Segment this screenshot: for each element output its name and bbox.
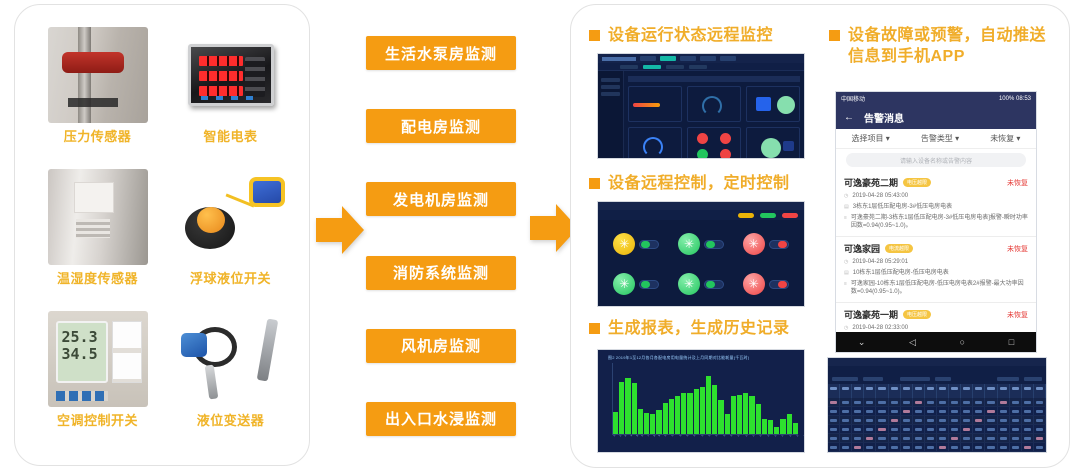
scenario-item-fan-room[interactable]: 风机房监测 (366, 329, 516, 363)
table-cell (985, 452, 997, 453)
chart-bar (663, 403, 668, 434)
table-header-cell (913, 384, 925, 398)
control-device-2[interactable]: ✳ (678, 233, 724, 255)
table-row[interactable] (828, 416, 1046, 425)
fan-icon: ✳ (613, 233, 635, 255)
table-cell (937, 425, 949, 433)
square-bullet-icon (589, 178, 600, 189)
chart-bar (632, 383, 637, 434)
device-label: 空调控制开关 (57, 410, 138, 429)
dashboard-tab[interactable] (640, 56, 656, 61)
table-cell (828, 416, 840, 424)
table-cell (937, 407, 949, 415)
alarm-title: 可逸豪苑一期 (844, 308, 898, 321)
table-cell (889, 452, 901, 453)
table-cell (925, 407, 937, 415)
arrow-left-icon[interactable]: ← (844, 112, 854, 123)
table-cell (949, 407, 961, 415)
table-cell (1010, 407, 1022, 415)
table-cell (949, 416, 961, 424)
table-cell (840, 416, 852, 424)
phone-status-bar: 中国移动 100% 08:53 (836, 92, 1036, 105)
dashboard-subtab[interactable] (689, 65, 707, 69)
dashboard-panel-title (628, 76, 800, 82)
table-cell (840, 443, 852, 451)
table-cell (901, 443, 913, 451)
device-label: 液位变送器 (197, 410, 265, 429)
dashboard-tab[interactable] (700, 56, 716, 61)
chevron-down-icon[interactable]: ⌄ (858, 337, 866, 348)
table-header-cell (985, 384, 997, 398)
table-header-cell (852, 384, 864, 398)
table-cell (876, 398, 888, 406)
toolbar-date-range[interactable] (900, 377, 930, 381)
phone-navbar: ← 告警消息 (836, 105, 1036, 129)
table-cell (828, 407, 840, 415)
table-cell (864, 398, 876, 406)
table-cell (925, 452, 937, 453)
dashboard-main (624, 71, 804, 159)
table-cell (1010, 443, 1022, 451)
devices-panel: 压力传感器 智能电表 温湿度传感器 浮球液位开关 (14, 4, 310, 466)
power-toggle[interactable] (639, 280, 659, 289)
table-cell (998, 416, 1010, 424)
remote-control-screenshot[interactable]: ✳ ✳ ✳ ✳ ✳ (597, 201, 805, 307)
chart-bar (644, 413, 649, 434)
table-cell (864, 425, 876, 433)
back-triangle-icon[interactable]: ◁ (909, 337, 916, 348)
table-toolbar (828, 373, 1046, 384)
power-toggle[interactable] (769, 240, 789, 249)
scenario-item-water-pump-room[interactable]: 生活水泵房监测 (366, 36, 516, 70)
table-cell (828, 452, 840, 453)
table-cell (876, 416, 888, 424)
device-item-ac-control-switch[interactable]: 25.334.5 空调控制开关 (35, 311, 160, 447)
table-header-cell (876, 384, 888, 398)
square-bullet-icon (589, 323, 600, 334)
table-cell (840, 452, 852, 453)
chart-bar (774, 427, 779, 434)
dashboard-subtabs (598, 63, 804, 71)
scenario-item-power-distribution-room[interactable]: 配电房监测 (366, 109, 516, 143)
table-cell (852, 434, 864, 442)
phone-search-row[interactable]: 请输入设备名称或告警内容 (836, 149, 1036, 171)
table-cell (889, 443, 901, 451)
table-header-cell (864, 384, 876, 398)
table-cell (973, 398, 985, 406)
toolbar-select-project[interactable] (832, 377, 858, 381)
monitoring-scenario-list: 生活水泵房监测 配电房监测 发电机房监测 消防系统监测 风机房监测 出入口水浸监… (366, 36, 516, 436)
table-cell (973, 434, 985, 442)
phone-filter-row: 选择项目 ▾ 告警类型 ▾ 未恢复 ▾ (836, 129, 1036, 149)
table-body (828, 398, 1046, 453)
table-cell (961, 416, 973, 424)
chart-bar (694, 389, 699, 434)
chart-bar (669, 399, 674, 435)
dashboard-subtab[interactable] (620, 65, 638, 69)
table-cell (925, 425, 937, 433)
table-cell (973, 452, 985, 453)
device-label: 智能电表 (203, 126, 257, 145)
alarm-list-item[interactable]: 可逸家园 电流越限 未恢复 ◷2019-04-28 05:29:01 ▤10栋东… (836, 237, 1036, 303)
table-cell (1022, 443, 1034, 451)
dashboard-logo (602, 57, 636, 61)
table-cell (876, 434, 888, 442)
widget-pressure[interactable] (628, 86, 682, 122)
table-cell (889, 434, 901, 442)
info-icon: ≡ (844, 280, 847, 296)
fan-icon: ✳ (613, 273, 635, 295)
table-cell (1034, 425, 1046, 433)
table-cell (1022, 452, 1034, 453)
device-grid: 压力传感器 智能电表 温湿度传感器 浮球液位开关 (35, 27, 293, 447)
alarm-title: 可逸豪苑二期 (844, 176, 898, 189)
alarm-title: 可逸家园 (844, 242, 880, 255)
table-header-row (828, 384, 1046, 398)
table-cell (985, 434, 997, 442)
table-row[interactable] (828, 443, 1046, 452)
table-header-cell (973, 384, 985, 398)
table-header-cell (925, 384, 937, 398)
table-cell (852, 425, 864, 433)
table-row[interactable] (828, 434, 1046, 443)
device-item-smart-meter[interactable]: 智能电表 (168, 27, 293, 163)
pressure-sensor-photo (48, 27, 148, 123)
mobile-alarm-app-screenshot[interactable]: 中国移动 100% 08:53 ← 告警消息 选择项目 ▾ 告警类型 ▾ 未恢复… (835, 91, 1037, 353)
table-cell (937, 452, 949, 453)
table-cell (828, 443, 840, 451)
carrier-label: 中国移动 (841, 94, 865, 103)
alarm-time: 2019-04-28 02:33:00 (852, 324, 908, 332)
power-toggle[interactable] (639, 240, 659, 249)
chart-plot-area (612, 363, 798, 435)
section-title: 设备运行状态远程监控 (608, 25, 773, 46)
arrow-right-icon (316, 202, 364, 258)
device-item-float-level-switch[interactable]: 浮球液位开关 (168, 169, 293, 305)
table-cell (961, 434, 973, 442)
table-cell (949, 425, 961, 433)
widget-status[interactable] (746, 86, 800, 122)
table-cell (985, 443, 997, 451)
section-title: 设备远程控制，定时控制 (608, 173, 790, 194)
device-label: 浮球液位开关 (190, 268, 271, 287)
table-cell (852, 452, 864, 453)
table-cell (1010, 398, 1022, 406)
table-cell (1022, 407, 1034, 415)
table-cell (889, 407, 901, 415)
dashboard-topbar (598, 54, 804, 63)
table-cell (913, 434, 925, 442)
table-cell (1010, 434, 1022, 442)
alarm-device: 10栋东1层低压配电房-低压电房电表 (853, 269, 949, 277)
table-cell (1034, 398, 1046, 406)
table-cell (973, 407, 985, 415)
table-cell (901, 398, 913, 406)
table-cell (961, 425, 973, 433)
chart-bar (793, 423, 798, 434)
table-cell (985, 425, 997, 433)
section-header-remote-control: 设备远程控制，定时控制 (589, 173, 829, 194)
table-cell (949, 398, 961, 406)
control-titlebar (598, 202, 804, 210)
table-cell (937, 443, 949, 451)
chart-bar (762, 419, 767, 434)
temperature-humidity-sensor-photo (48, 169, 148, 265)
table-row[interactable] (828, 425, 1046, 434)
table-header-cell (1034, 384, 1046, 398)
table-cell (1022, 398, 1034, 406)
scenario-item-generator-room[interactable]: 发电机房监测 (366, 182, 516, 216)
chart-bar (743, 393, 748, 434)
table-cell (828, 434, 840, 442)
power-toggle[interactable] (704, 280, 724, 289)
filter-status[interactable]: 未恢复 ▾ (990, 133, 1020, 144)
device-icon: ▤ (844, 269, 849, 277)
widget-fan-status[interactable] (746, 127, 800, 159)
filter-project[interactable]: 选择项目 ▾ (852, 133, 890, 144)
table-cell (876, 452, 888, 453)
chart-bar (613, 412, 618, 434)
energy-consumption-bar-chart[interactable]: 图2 2019年1至12月各月各配电房用电量统计及上月同期对比能耗量(千瓦时) … (597, 349, 805, 453)
table-cell (852, 443, 864, 451)
table-cell (937, 398, 949, 406)
table-cell (925, 398, 937, 406)
table-cell (864, 443, 876, 451)
legend-fault (782, 213, 798, 218)
table-cell (985, 398, 997, 406)
table-cell (889, 425, 901, 433)
control-device-6[interactable]: ✳ (743, 273, 789, 295)
table-cell (1034, 434, 1046, 442)
dashboard-subtab-active[interactable] (643, 65, 661, 69)
dashboard-sidebar[interactable] (598, 71, 624, 159)
chart-bar (737, 395, 742, 434)
table-header-cell (949, 384, 961, 398)
clock-icon: ◷ (844, 324, 848, 332)
device-item-pressure-sensor[interactable]: 压力传感器 (35, 27, 160, 163)
dashboard-body (598, 71, 804, 159)
filter-alarm-type[interactable]: 告警类型 ▾ (921, 133, 959, 144)
table-cell (985, 416, 997, 424)
alarm-status: 未恢复 (1007, 244, 1028, 254)
float-level-switch-photo (173, 169, 289, 265)
section-title: 设备故障或预警，自动推送信息到手机APP (848, 25, 1061, 67)
section-title: 生成报表，生成历史记录 (608, 318, 790, 339)
alarm-time: 2019-04-28 05:43:00 (852, 192, 908, 200)
table-breadcrumb (828, 366, 1046, 373)
table-row[interactable] (828, 407, 1046, 416)
device-label: 温湿度传感器 (57, 268, 138, 287)
table-cell (961, 407, 973, 415)
search-input[interactable]: 请输入设备名称或告警内容 (846, 153, 1026, 167)
history-report-table-screenshot[interactable] (827, 357, 1047, 453)
alarm-status: 未恢复 (1007, 178, 1028, 188)
toolbar-settings-button[interactable] (1024, 377, 1042, 381)
table-cell (852, 416, 864, 424)
chart-bar (700, 387, 705, 434)
chart-bar (731, 396, 736, 434)
table-cell (925, 443, 937, 451)
alarm-device: 3栋东1层低压配电房-3#低压电房电表 (853, 203, 952, 211)
table-header-cell (840, 384, 852, 398)
chart-bar (718, 400, 723, 434)
table-cell (876, 407, 888, 415)
table-header-cell (1010, 384, 1022, 398)
home-circle-icon[interactable]: ○ (960, 337, 965, 347)
alarm-detail: 可逸家园-10栋东1层低压配电房-低压电房电表2#报警-最大功率因数=0.94(… (851, 280, 1028, 296)
battery-clock-label: 100% 08:53 (999, 96, 1031, 102)
table-cell (949, 452, 961, 453)
scenario-item-fire-system[interactable]: 消防系统监测 (366, 256, 516, 290)
fan-icon: ✳ (743, 233, 765, 255)
scenario-item-entrance-flood[interactable]: 出入口水浸监测 (366, 402, 516, 436)
chart-bar (625, 378, 630, 434)
dashboard-tab-active[interactable] (660, 56, 676, 61)
legend-running (738, 213, 754, 218)
widget-pump-indicators[interactable] (687, 127, 741, 159)
table-cell (852, 407, 864, 415)
chart-bar (619, 382, 624, 434)
chart-bar (681, 393, 686, 434)
table-cell (864, 434, 876, 442)
fan-icon: ✳ (743, 273, 765, 295)
table-header-cell (901, 384, 913, 398)
table-cell (973, 416, 985, 424)
table-header-cell (998, 384, 1010, 398)
table-cell (864, 452, 876, 453)
fan-icon: ✳ (678, 273, 700, 295)
chart-bar (787, 414, 792, 434)
alarm-time: 2019-04-28 05:29:01 (852, 258, 908, 266)
control-device-5[interactable]: ✳ (678, 273, 724, 295)
table-cell (925, 416, 937, 424)
table-cell (998, 452, 1010, 453)
alarm-badge: 电压越限 (903, 178, 931, 187)
smart-meter-photo (173, 27, 289, 123)
table-header-cell (937, 384, 949, 398)
table-cell (889, 416, 901, 424)
widget-gauge-2[interactable] (628, 127, 682, 159)
table-titlebar (828, 358, 1046, 366)
table-cell (901, 407, 913, 415)
device-item-temp-humidity-sensor[interactable]: 温湿度传感器 (35, 169, 160, 305)
features-panel: 设备运行状态远程监控 设备故障或预警，自动推送信息到手机APP 设备远程控制，定… (570, 4, 1070, 468)
widget-gauge[interactable] (687, 86, 741, 122)
control-device-4[interactable]: ✳ (613, 273, 659, 295)
control-device-grid: ✳ ✳ ✳ ✳ ✳ (598, 220, 804, 307)
table-cell (973, 443, 985, 451)
clock-icon: ◷ (844, 258, 848, 266)
table-cell (901, 425, 913, 433)
chart-x-tick-labels: 1栋2栋3栋4栋5栋6栋7栋8栋9栋10栋11栋12栋13栋14栋15栋16栋1… (612, 435, 804, 449)
table-cell (1034, 452, 1046, 453)
table-cell (1010, 425, 1022, 433)
table-cell (998, 407, 1010, 415)
chart-bar (650, 414, 655, 434)
dashboard-subtab[interactable] (666, 65, 684, 69)
scada-dashboard-screenshot[interactable] (597, 53, 805, 159)
device-label: 压力传感器 (64, 126, 132, 145)
dashboard-tab[interactable] (720, 56, 736, 61)
toolbar-export-button[interactable] (997, 377, 1019, 381)
table-cell (998, 443, 1010, 451)
chart-bar (687, 393, 692, 434)
table-cell (1022, 425, 1034, 433)
table-cell (913, 398, 925, 406)
table-cell (949, 443, 961, 451)
device-icon: ▤ (844, 203, 849, 211)
table-cell (998, 434, 1010, 442)
square-bullet-icon (829, 30, 840, 41)
table-cell (998, 425, 1010, 433)
table-cell (840, 407, 852, 415)
toolbar-query-button[interactable] (935, 377, 951, 381)
table-cell (864, 416, 876, 424)
table-cell (1022, 434, 1034, 442)
chart-bar (706, 376, 711, 434)
alarm-list-item[interactable]: 可逸豪苑二期 电压越限 未恢复 ◷2019-04-28 05:43:00 ▤3栋… (836, 171, 1036, 237)
legend-standby (760, 213, 776, 218)
chart-bar (756, 404, 761, 434)
table-header-cell (961, 384, 973, 398)
section-header-reports: 生成报表，生成历史记录 (589, 318, 829, 339)
table-cell (985, 407, 997, 415)
toolbar-select-device[interactable] (863, 377, 883, 381)
control-device-1[interactable]: ✳ (613, 233, 659, 255)
dashboard-tab[interactable] (680, 56, 696, 61)
table-cell (1010, 416, 1022, 424)
phone-nav-title: 告警消息 (864, 110, 904, 125)
chart-bar (712, 385, 717, 434)
chart-bar (656, 410, 661, 434)
table-cell (1010, 452, 1022, 453)
table-row[interactable] (828, 452, 1046, 453)
table-cell (840, 398, 852, 406)
section-header-remote-monitor: 设备运行状态远程监控 (589, 25, 819, 46)
chart-bar (638, 409, 643, 434)
table-cell (852, 398, 864, 406)
table-cell (937, 416, 949, 424)
power-toggle[interactable] (769, 280, 789, 289)
chart-bar (725, 414, 730, 434)
table-cell (961, 443, 973, 451)
power-toggle[interactable] (704, 240, 724, 249)
info-icon: ≡ (844, 214, 847, 230)
table-cell (901, 434, 913, 442)
chart-bar (749, 396, 754, 434)
table-cell (901, 416, 913, 424)
table-cell (998, 398, 1010, 406)
fan-icon: ✳ (678, 233, 700, 255)
level-transmitter-photo (173, 311, 289, 407)
infographic-root: 压力传感器 智能电表 温湿度传感器 浮球液位开关 (0, 0, 1080, 474)
table-cell (840, 425, 852, 433)
table-cell (961, 452, 973, 453)
table-cell (973, 425, 985, 433)
square-bullet-icon (589, 30, 600, 41)
table-cell (913, 416, 925, 424)
table-cell (913, 443, 925, 451)
device-item-level-transmitter[interactable]: 液位变送器 (168, 311, 293, 447)
control-device-3[interactable]: ✳ (743, 233, 789, 255)
recents-square-icon[interactable]: □ (1009, 337, 1014, 347)
table-header-cell (1022, 384, 1034, 398)
table-cell (913, 452, 925, 453)
table-cell (913, 425, 925, 433)
table-cell (876, 425, 888, 433)
table-row[interactable] (828, 398, 1046, 407)
alarm-badge: 电压越限 (903, 310, 931, 319)
